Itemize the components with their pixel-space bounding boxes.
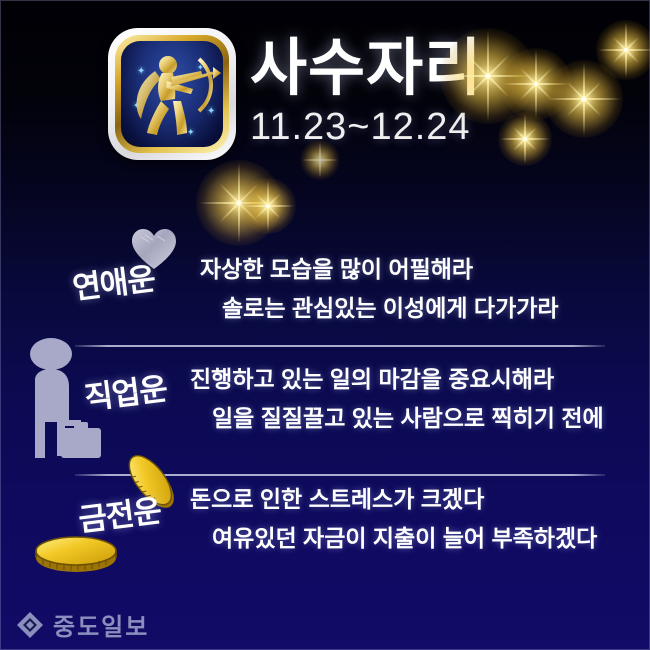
sparkle-icon <box>240 178 296 234</box>
sagittarius-archer-icon: ✦ ✦ ✦ ✦ ✦ ✦ <box>108 28 236 160</box>
money-line-1: 돈으로 인한 스트레스가 크겠다 <box>190 488 597 511</box>
sparkle-icon <box>498 112 552 166</box>
diamond-logo-icon <box>16 611 44 639</box>
page-title: 사수자리 <box>250 38 482 100</box>
logo-text: 중도일보 <box>53 607 149 642</box>
badge-inner: ✦ ✦ ✦ ✦ ✦ ✦ <box>121 41 223 147</box>
section-lines-love: 자상한 모습을 많이 어필해라 솔로는 관심있는 이성에게 다가가라 <box>200 258 559 320</box>
love-line-2: 솔로는 관심있는 이성에게 다가가라 <box>200 297 559 320</box>
sparkle-icon <box>596 20 650 80</box>
title-block: 사수자리 11.23~12.24 <box>250 38 482 149</box>
career-line-2: 일을 질질끌고 있는 사람으로 찍히기 전에 <box>190 407 604 430</box>
love-line-1: 자상한 모습을 많이 어필해라 <box>200 258 559 281</box>
section-lines-money: 돈으로 인한 스트레스가 크겠다 여유있던 자금이 지출이 늘어 부족하겠다 <box>190 488 597 550</box>
section-label-money: 금전운 <box>76 485 163 540</box>
money-line-2: 여유있던 자금이 지출이 늘어 부족하겠다 <box>190 527 597 550</box>
horoscope-card: ✦ ✦ ✦ ✦ ✦ ✦ <box>0 0 650 650</box>
section-lines-career: 진행하고 있는 일의 마감을 중요시해라 일을 질질끌고 있는 사람으로 찍히기… <box>190 368 604 430</box>
footer-logo: 중도일보 <box>16 607 149 642</box>
gold-coins-icon <box>33 532 119 574</box>
divider <box>75 345 605 347</box>
sparkle-icon <box>196 160 282 246</box>
date-range: 11.23~12.24 <box>250 106 482 149</box>
badge-gold-frame: ✦ ✦ ✦ ✦ ✦ ✦ <box>115 35 229 153</box>
sparkle-icon <box>500 48 572 120</box>
section-label-love: 연애운 <box>70 253 157 308</box>
section-label-career: 직업운 <box>82 363 169 418</box>
header: ✦ ✦ ✦ ✦ ✦ ✦ <box>0 0 650 200</box>
career-line-1: 진행하고 있는 일의 마감을 중요시해라 <box>190 368 604 391</box>
sparkle-icon <box>545 60 623 138</box>
